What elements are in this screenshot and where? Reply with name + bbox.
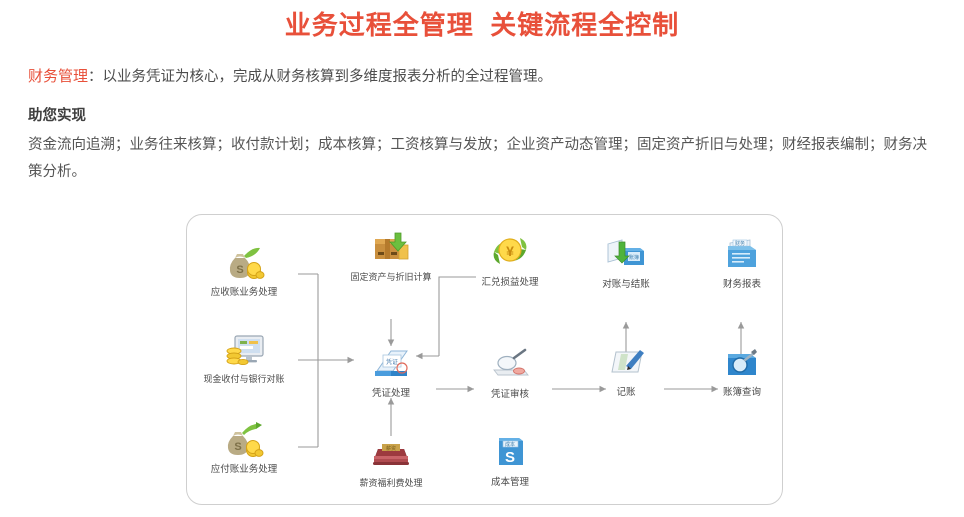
flow-node-reconcile[interactable]: 账簿 对账与结账 — [570, 234, 682, 291]
currency-exchange-icon: ¥ — [488, 232, 532, 272]
flow-node-payroll[interactable]: 薪资 薪资福利费处理 — [335, 433, 447, 490]
intro-colon: ： — [88, 69, 103, 85]
intro-description: 以业务凭证为核心，完成从财务核算到多维度报表分析的全过程管理。 — [103, 69, 553, 85]
flow-node-label: 现金收付与银行对账 — [188, 373, 300, 386]
books-sync-icon: 账簿 — [604, 234, 648, 274]
flow-node-fx[interactable]: ¥ 汇兑损益处理 — [454, 232, 566, 289]
flow-node-label: 薪资福利费处理 — [335, 477, 447, 490]
pen-ledger-icon — [604, 342, 648, 382]
flow-node-cash-bank[interactable]: 现金收付与银行对账 — [188, 329, 300, 386]
flow-node-label: 成本管理 — [454, 476, 566, 489]
intro-section: 财务管理：以业务凭证为核心，完成从财务核算到多维度报表分析的全过程管理。 助您实… — [0, 42, 964, 186]
magnifier-stamp-icon — [488, 344, 532, 384]
voucher-book-icon: 凭证 — [369, 343, 413, 383]
svg-text:财务: 财务 — [735, 240, 745, 247]
flow-node-label: 应付账业务处理 — [188, 463, 300, 476]
intro-key-label: 财务管理 — [28, 68, 88, 85]
sub-heading: 助您实现 — [28, 104, 940, 128]
svg-text:账簿: 账簿 — [629, 254, 639, 261]
flow-node-cost[interactable]: 成本 S 成本管理 — [454, 432, 566, 489]
intro-description-line: 财务管理：以业务凭证为核心，完成从财务核算到多维度报表分析的全过程管理。 — [28, 64, 940, 90]
flow-node-label: 凭证审核 — [454, 388, 566, 401]
cost-book-icon: 成本 S — [488, 432, 532, 472]
flow-node-label: 账簿查询 — [686, 386, 798, 399]
flowchart: S 应收账业务处理 现金收付与银行对账 S — [186, 214, 783, 505]
flow-node-audit[interactable]: 凭证审核 — [454, 344, 566, 401]
svg-text:薪资: 薪资 — [386, 445, 396, 452]
ledger-search-icon — [720, 342, 764, 382]
svg-text:成本: 成本 — [505, 441, 515, 448]
flow-node-fixed-asset[interactable]: 固定资产与折旧计算 — [335, 227, 447, 284]
svg-text:S: S — [505, 449, 515, 466]
flow-node-label: 应收账业务处理 — [188, 286, 300, 299]
payroll-tray-icon: 薪资 — [369, 433, 413, 473]
finance-report-icon: 财务 — [720, 234, 764, 274]
svg-text:¥: ¥ — [506, 243, 514, 259]
monitor-coins-icon — [222, 329, 266, 369]
svg-text:S: S — [234, 441, 241, 453]
flow-node-voucher[interactable]: 凭证 凭证处理 — [335, 343, 447, 400]
page-title: 业务过程全管理 关键流程全控制 — [0, 0, 964, 42]
flow-node-ledger-query[interactable]: 账簿查询 — [686, 342, 798, 399]
money-bag-in-icon: S — [222, 242, 266, 282]
flow-node-label: 汇兑损益处理 — [454, 276, 566, 289]
flow-node-report[interactable]: 财务 财务报表 — [686, 234, 798, 291]
money-bag-out-icon: S — [222, 419, 266, 459]
flow-node-label: 财务报表 — [686, 278, 798, 291]
flow-node-bookkeeping[interactable]: 记账 — [570, 342, 682, 399]
svg-text:凭证: 凭证 — [386, 358, 398, 366]
flow-node-label: 记账 — [570, 386, 682, 399]
flow-node-label: 凭证处理 — [335, 387, 447, 400]
box-depreciation-icon — [369, 227, 413, 267]
flow-node-label: 对账与结账 — [570, 278, 682, 291]
body-paragraph: 资金流向追溯；业务往来核算；收付款计划；成本核算；工资核算与发放；企业资产动态管… — [28, 132, 940, 186]
svg-text:S: S — [236, 264, 243, 276]
flow-node-label: 固定资产与折旧计算 — [335, 271, 447, 284]
flow-node-ap[interactable]: S 应付账业务处理 — [188, 419, 300, 476]
flow-node-ar[interactable]: S 应收账业务处理 — [188, 242, 300, 299]
